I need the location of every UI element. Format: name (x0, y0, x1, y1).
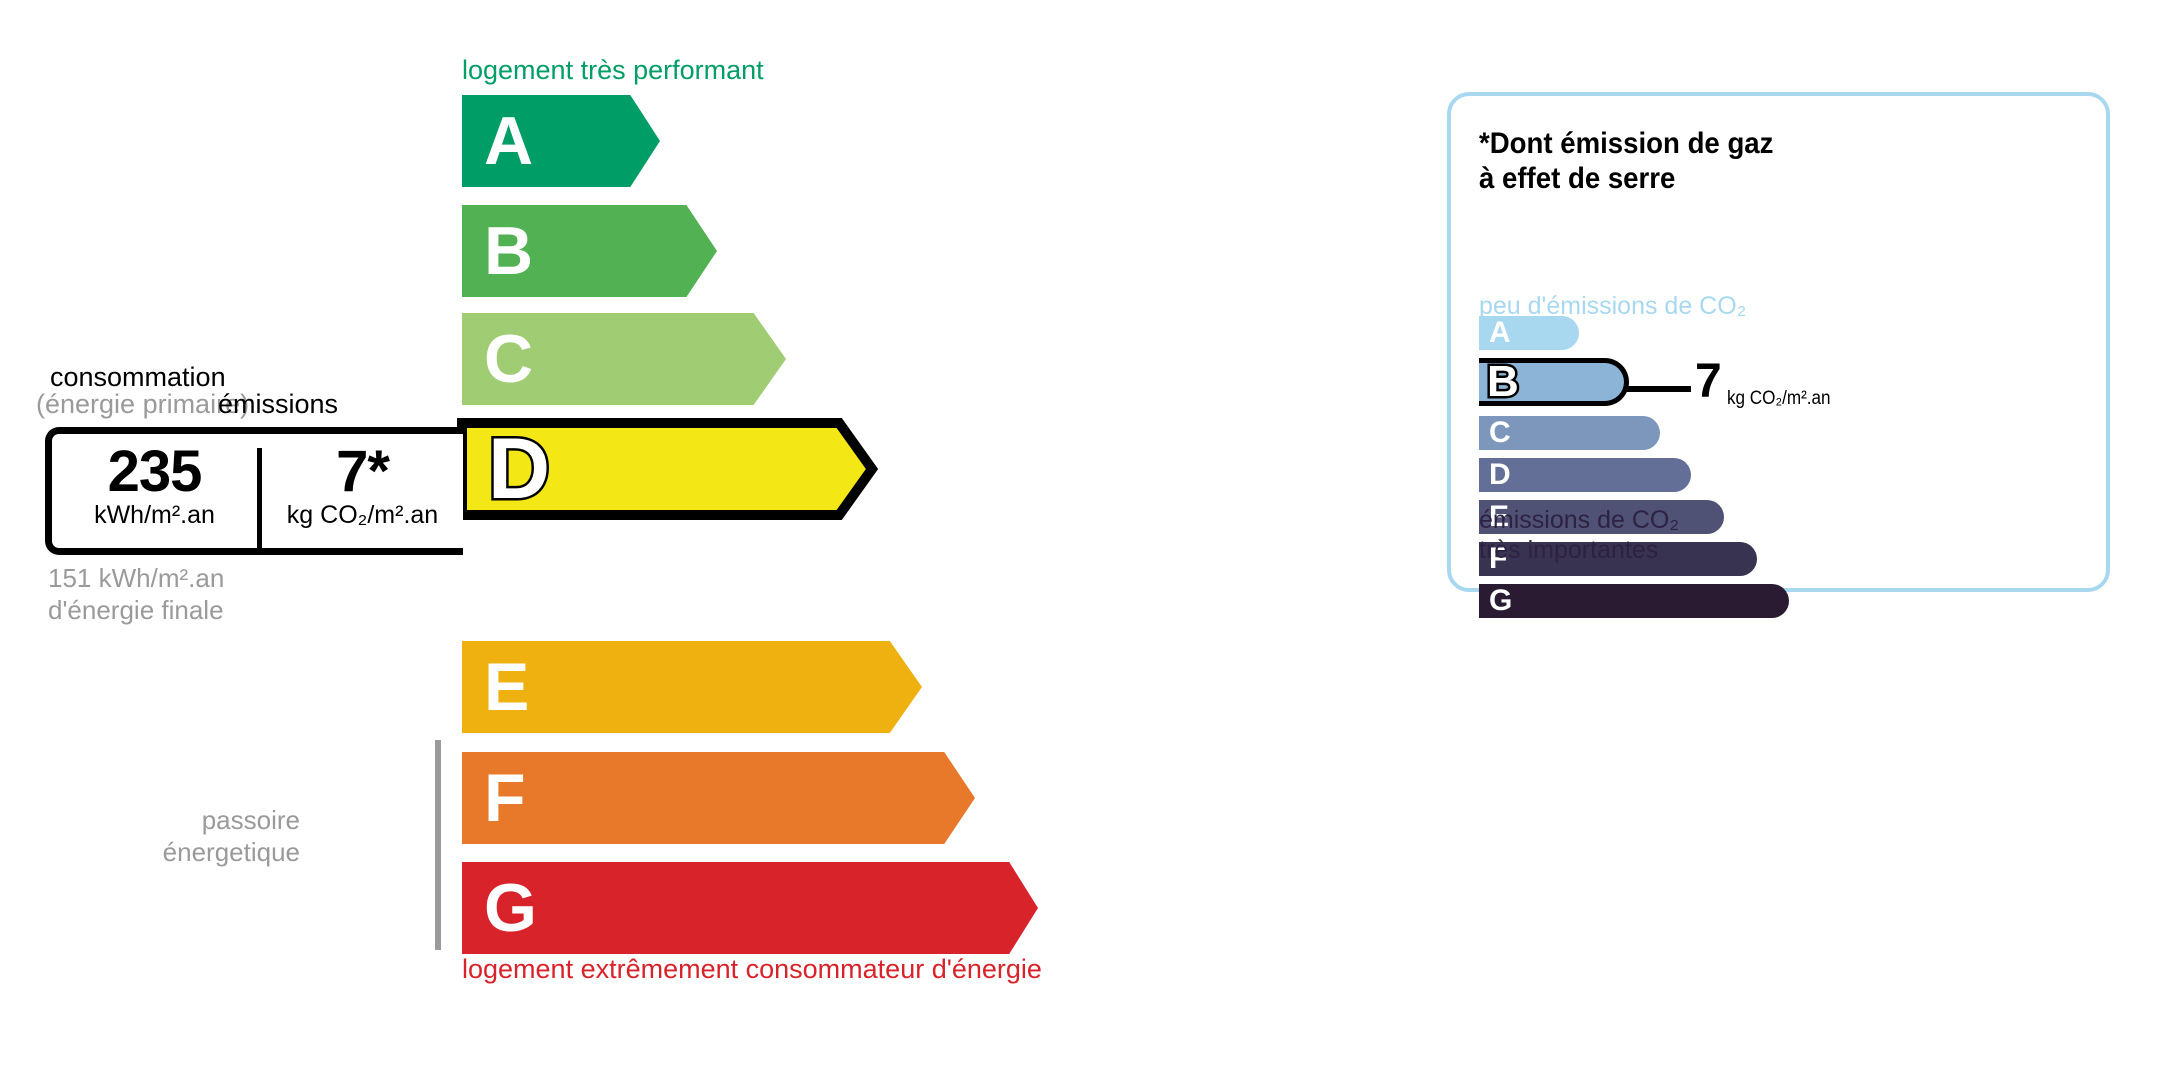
energy-class-letter-c: C (484, 325, 533, 393)
energy-class-row-c[interactable]: C (462, 313, 786, 405)
energy-class-letter-b: B (484, 217, 533, 285)
energy-class-row-f[interactable]: F (462, 752, 975, 844)
energy-class-letter-a: A (484, 107, 533, 175)
passoire-energetique-label: passoire énergetique (100, 805, 300, 868)
co2-emissions-panel: *Dont émission de gaz à effet de serre p… (1447, 92, 2110, 592)
scale-bottom-caption: logement extrêmement consommateur d'éner… (462, 954, 1042, 985)
co2-class-row-c[interactable]: C (1479, 416, 1660, 450)
co2-class-row-d[interactable]: D (1479, 458, 1691, 492)
energy-class-letter-f: F (484, 764, 526, 832)
co2-class-row-g[interactable]: G (1479, 584, 1789, 618)
co2-bottom-caption: émissions de CO₂ très importantes (1479, 506, 1679, 565)
co2-class-row-a[interactable]: A (1479, 316, 1579, 350)
co2-class-letter-c: C (1489, 418, 1511, 448)
energy-performance-scale: logement très performant A B C D E (0, 0, 1400, 1079)
co2-panel-title: *Dont émission de gaz à effet de serre (1479, 126, 1773, 197)
co2-class-letter-a: A (1489, 318, 1511, 348)
consumption-value: 235 (52, 440, 257, 505)
co2-bottom-caption-line2: très importantes (1479, 536, 1679, 566)
final-energy-note: 151 kWh/m².an d'énergie finale (48, 563, 224, 626)
co2-bar-d (1479, 458, 1691, 492)
energy-class-letter-d: D (488, 426, 550, 512)
consumption-cell: 235 kWh/m².an (52, 440, 257, 530)
co2-bottom-caption-line1: émissions de CO₂ (1479, 506, 1679, 536)
co2-class-letter-d: D (1489, 460, 1511, 490)
consumption-unit: kWh/m².an (52, 501, 257, 530)
energy-class-letter-g: G (484, 874, 537, 942)
label-emissions: émissions (218, 389, 338, 420)
co2-bar-g (1479, 584, 1789, 618)
passoire-label-line2: énergetique (100, 837, 300, 869)
co2-title-line2: à effet de serre (1479, 161, 1773, 196)
energy-class-row-g[interactable]: G (462, 862, 1038, 954)
emission-value: 7* (262, 440, 463, 505)
co2-measured-value: 7 (1695, 358, 1722, 406)
co2-title-line1: *Dont émission de gaz (1479, 126, 1773, 161)
arrow-shape-e (462, 641, 922, 733)
emission-cell: 7* kg CO₂/m².an (262, 440, 463, 530)
energy-class-row-b[interactable]: B (462, 205, 717, 297)
co2-class-letter-g: G (1489, 586, 1512, 616)
final-energy-caption: d'énergie finale (48, 595, 224, 627)
co2-class-letter-b: B (1487, 360, 1519, 404)
arrow-shape-f (462, 752, 975, 844)
measured-values-box: 235 kWh/m².an 7* kg CO₂/m².an (45, 427, 463, 555)
scale-top-caption: logement très performant (462, 55, 764, 86)
passoire-bracket-line (435, 740, 441, 950)
energy-class-row-d-selected[interactable]: D (462, 423, 872, 515)
emission-unit: kg CO₂/m².an (262, 501, 463, 530)
arrow-shape-g (462, 862, 1038, 954)
energy-class-row-a[interactable]: A (462, 95, 660, 187)
passoire-label-line1: passoire (100, 805, 300, 837)
co2-measured-unit: kg CO₂/m².an (1727, 388, 1831, 410)
energy-class-row-e[interactable]: E (462, 641, 922, 733)
energy-class-letter-e: E (484, 653, 529, 721)
co2-class-row-b-selected[interactable]: B (1479, 358, 1629, 406)
final-energy-value: 151 kWh/m².an (48, 563, 224, 595)
